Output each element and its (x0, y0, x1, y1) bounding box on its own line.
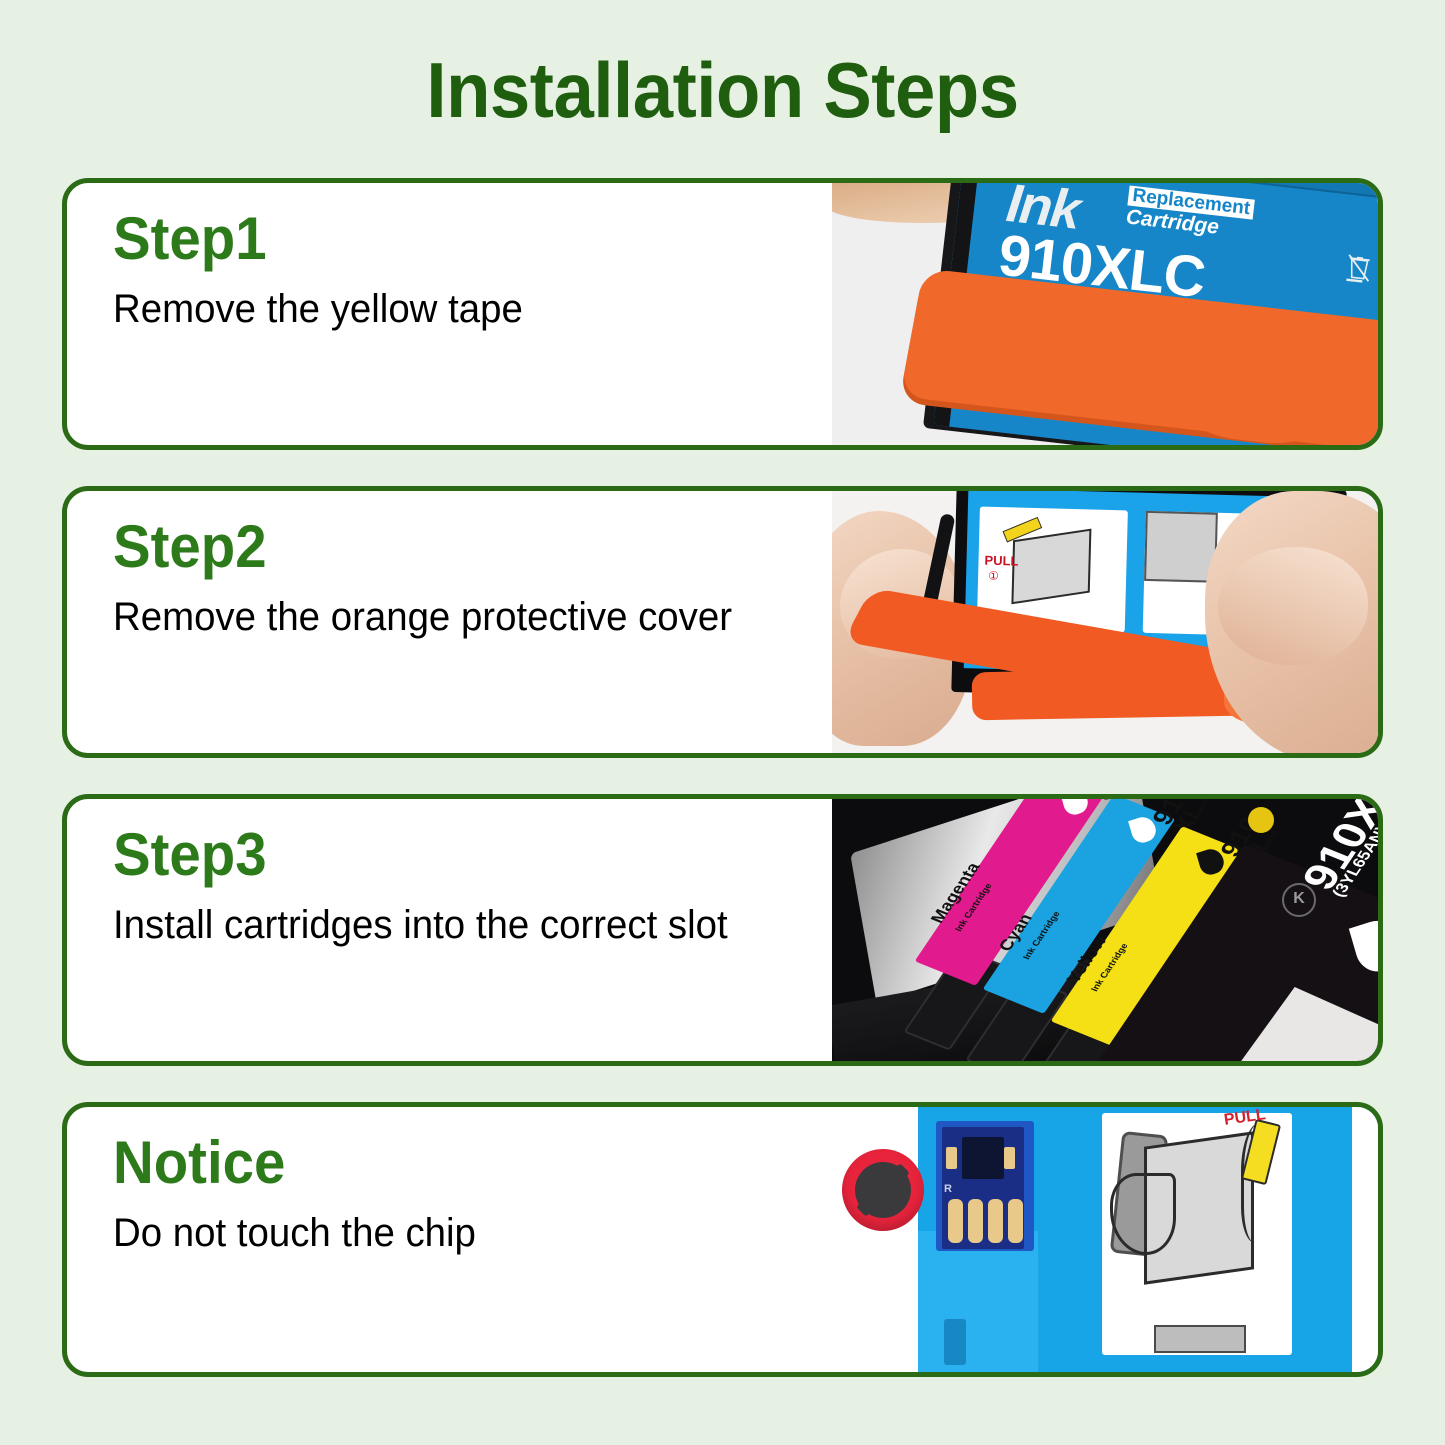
step1-image: 910 XL Cyan Ink Replacement Cartridge 91… (832, 183, 1378, 445)
step1-text-block: Step1 Remove the yellow tape (67, 183, 832, 445)
yellow-knob-icon (1248, 807, 1274, 833)
step-card-step1: Step1 Remove the yellow tape 910 XL Cyan… (62, 178, 1383, 450)
chip-contact-pad (988, 1199, 1003, 1243)
step2-text-block: Step2 Remove the orange protective cover (67, 491, 832, 753)
step3-label: Step3 (113, 825, 789, 885)
no-entry-inner (855, 1162, 911, 1218)
step1-label: Step1 (113, 209, 789, 269)
ink-droplet-icon (1349, 914, 1378, 977)
pull-label: PULL (984, 553, 1018, 569)
page-title: Installation Steps (51, 45, 1395, 136)
no-entry-icon (842, 1149, 924, 1231)
notice-description: Do not touch the chip (113, 1207, 785, 1260)
k-knob-icon: K (1282, 883, 1316, 917)
notice-text-block: Notice Do not touch the chip (67, 1107, 832, 1372)
infographic-page: Installation Steps Step1 Remove the yell… (0, 0, 1445, 1445)
chip-contact-pad (1008, 1199, 1023, 1243)
step-card-step3: Step3 Install cartridges into the correc… (62, 794, 1383, 1066)
diagram-cover-icon (1144, 511, 1218, 583)
black-cartridge-panel (1222, 987, 1378, 1061)
chip-small-pad (946, 1147, 957, 1169)
weee-bin-icon (1344, 253, 1373, 286)
diagram-cartridge-icon (1011, 529, 1091, 605)
step-card-step2: Step2 Remove the orange protective cover… (62, 486, 1383, 758)
step2-label: Step2 (113, 517, 789, 577)
pull-step-number: ① (988, 569, 999, 583)
chip-contact-pad (948, 1199, 963, 1243)
step2-description: Remove the orange protective cover (113, 591, 785, 644)
step3-description: Install cartridges into the correct slot (113, 899, 785, 952)
cartridge-brand-replacement-block: Replacement Cartridge (1125, 186, 1255, 242)
diagram-foot-icon (1154, 1325, 1246, 1353)
step3-image: 910 XL (3YL62AN) Magenta Ink Cartridge 9… (832, 799, 1378, 1061)
right-thumb-icon (1218, 547, 1368, 665)
step2-image: PULL ① PUSH (832, 491, 1378, 753)
chip-small-pad (1004, 1147, 1015, 1169)
blue-cartridge-side (918, 1231, 1038, 1372)
step-card-notice: Notice Do not touch the chip R (62, 1102, 1383, 1377)
step1-description: Remove the yellow tape (113, 283, 785, 336)
notice-right-white-edge (1352, 1107, 1378, 1372)
step3-text-block: Step3 Install cartridges into the correc… (67, 799, 832, 1061)
chip-ic-icon (962, 1137, 1004, 1179)
chip-contact-pad (968, 1199, 983, 1243)
chip-silkscreen-text: R (944, 1183, 954, 1195)
notice-label: Notice (113, 1133, 789, 1193)
notice-image: R PULL (832, 1107, 1378, 1372)
pull-tape-diagram: PULL (1102, 1113, 1292, 1355)
blue-cartridge-notch (944, 1319, 966, 1365)
